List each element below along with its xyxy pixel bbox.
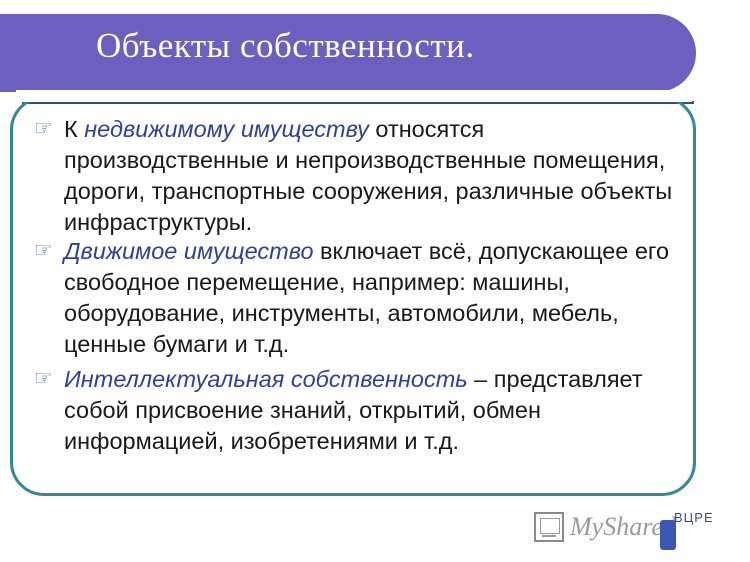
frame-break [16,90,692,102]
page-title: Объекты собственности. [96,26,696,66]
bullet-item-1: ☞ К недвижимому имуществу относятся прои… [34,114,674,238]
pointing-hand-icon: ☞ [34,118,60,139]
bullet-2-emphasis: Движимое имущество [64,238,314,264]
bullet-item-3: ☞ Интеллектуальная собственность – предс… [34,364,674,457]
logo-badge: ВЦРЕ [674,510,714,525]
bullet-3-text: Интеллектуальная собственность – предста… [64,364,674,457]
bullet-3-emphasis: Интеллектуальная собственность [64,366,468,392]
bullet-1-text: К недвижимому имуществу относятся произв… [64,114,674,238]
bullet-1-emphasis: недвижимому имуществу [84,116,369,142]
pointing-hand-icon: ☞ [34,368,60,389]
slide: Объекты собственности. ☞ К недвижимому и… [0,0,750,562]
myshared-logo: MyShared ВЦРЕ [534,508,734,554]
presentation-icon [534,512,564,542]
bullet-2-text: Движимое имущество включает всё, допуска… [64,236,674,360]
pointing-hand-icon: ☞ [34,240,60,261]
bullet-1-lead: К [64,116,84,142]
bullet-item-2: ☞ Движимое имущество включает всё, допус… [34,236,674,360]
